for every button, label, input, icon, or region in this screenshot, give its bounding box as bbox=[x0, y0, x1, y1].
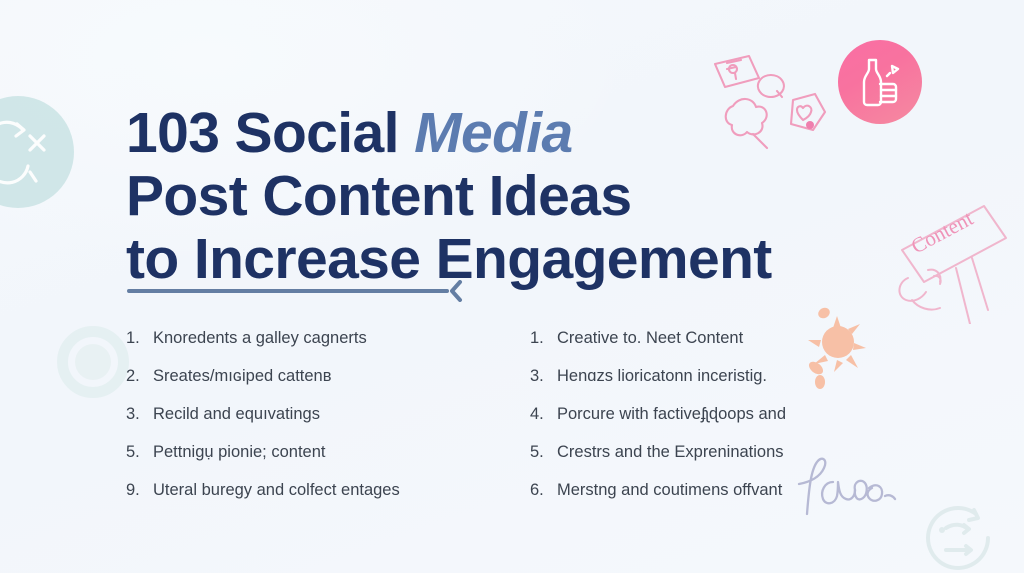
refresh-badge-circle bbox=[0, 96, 74, 208]
divider-line bbox=[127, 289, 449, 293]
content-ideas-lists: 1. Knoredents a galley cagnerts 2. Sreat… bbox=[126, 326, 926, 502]
list-item-label: Uteral buregy and colfect entages bbox=[153, 478, 400, 502]
list-item: 2. Sreates/mıɢiped cattenʙ bbox=[126, 364, 486, 388]
headline-line-1-prefix: 103 Social bbox=[126, 101, 414, 165]
list-item: 3. Henɑzs lioricatonn inceristig. bbox=[530, 364, 890, 388]
list-item-number: 5. bbox=[530, 440, 549, 464]
svg-text:Content: Content bbox=[907, 206, 977, 258]
refresh-arrows-icon bbox=[0, 100, 70, 204]
chevron-left-icon bbox=[443, 280, 465, 302]
list-item-number: 2. bbox=[126, 364, 145, 388]
list-column-left: 1. Knoredents a galley cagnerts 2. Sreat… bbox=[126, 326, 486, 502]
list-item-number: 3. bbox=[530, 364, 549, 388]
list-item: 1. Knoredents a galley cagnerts bbox=[126, 326, 486, 350]
headline-emphasis-media: Media bbox=[414, 101, 573, 165]
list-item-label: Merstng and coutimens offvant bbox=[557, 478, 782, 502]
list-column-right: 1. Creative to. Neet Content 3. Henɑzs l… bbox=[530, 326, 890, 502]
ring-icon bbox=[57, 326, 129, 398]
list-item-number: 4. bbox=[530, 402, 549, 426]
list-item-label: Porcure with factiveʄʅɖoops and bbox=[557, 402, 786, 426]
list-item: 5. Pettnigụ pionie; content bbox=[126, 440, 486, 464]
ring-core-icon bbox=[75, 344, 111, 380]
headline-line-1: 103 Social Media bbox=[126, 102, 906, 165]
list-item-number: 3. bbox=[126, 402, 145, 426]
list-item: 9. Uteral buregy and colfect entages bbox=[126, 478, 486, 502]
bottle-icon bbox=[856, 56, 906, 108]
headline-line-2: Post Content Ideas bbox=[126, 165, 906, 228]
refresh-clock-icon bbox=[912, 492, 1004, 573]
list-item-label: Sreates/mıɢiped cattenʙ bbox=[153, 364, 332, 388]
poster-canvas: Content bbox=[0, 0, 1024, 573]
list-item-number: 1. bbox=[530, 326, 549, 350]
list-item-label: Henɑzs lioricatonn inceristig. bbox=[557, 364, 767, 388]
list-item-label: Creative to. Neet Content bbox=[557, 326, 743, 350]
list-item: 3. Recild and equıvatings bbox=[126, 402, 486, 426]
list-item: 4. Porcure with factiveʄʅɖoops and bbox=[530, 402, 890, 426]
divider bbox=[127, 280, 463, 302]
list-item-number: 6. bbox=[530, 478, 549, 502]
list-item-number: 1. bbox=[126, 326, 145, 350]
list-item: 5. Crestrs and the Expreninations bbox=[530, 440, 890, 464]
list-item-label: Pettnigụ pionie; content bbox=[153, 440, 325, 464]
list-item-number: 5. bbox=[126, 440, 145, 464]
list-item: 6. Merstng and coutimens offvant bbox=[530, 478, 890, 502]
page-title: 103 Social Media Post Content Ideas to I… bbox=[126, 102, 906, 291]
list-item-number: 9. bbox=[126, 478, 145, 502]
list-item-label: Knoredents a galley cagnerts bbox=[153, 326, 367, 350]
list-item-label: Crestrs and the Expreninations bbox=[557, 440, 784, 464]
list-item: 1. Creative to. Neet Content bbox=[530, 326, 890, 350]
list-item-label: Recild and equıvatings bbox=[153, 402, 320, 426]
